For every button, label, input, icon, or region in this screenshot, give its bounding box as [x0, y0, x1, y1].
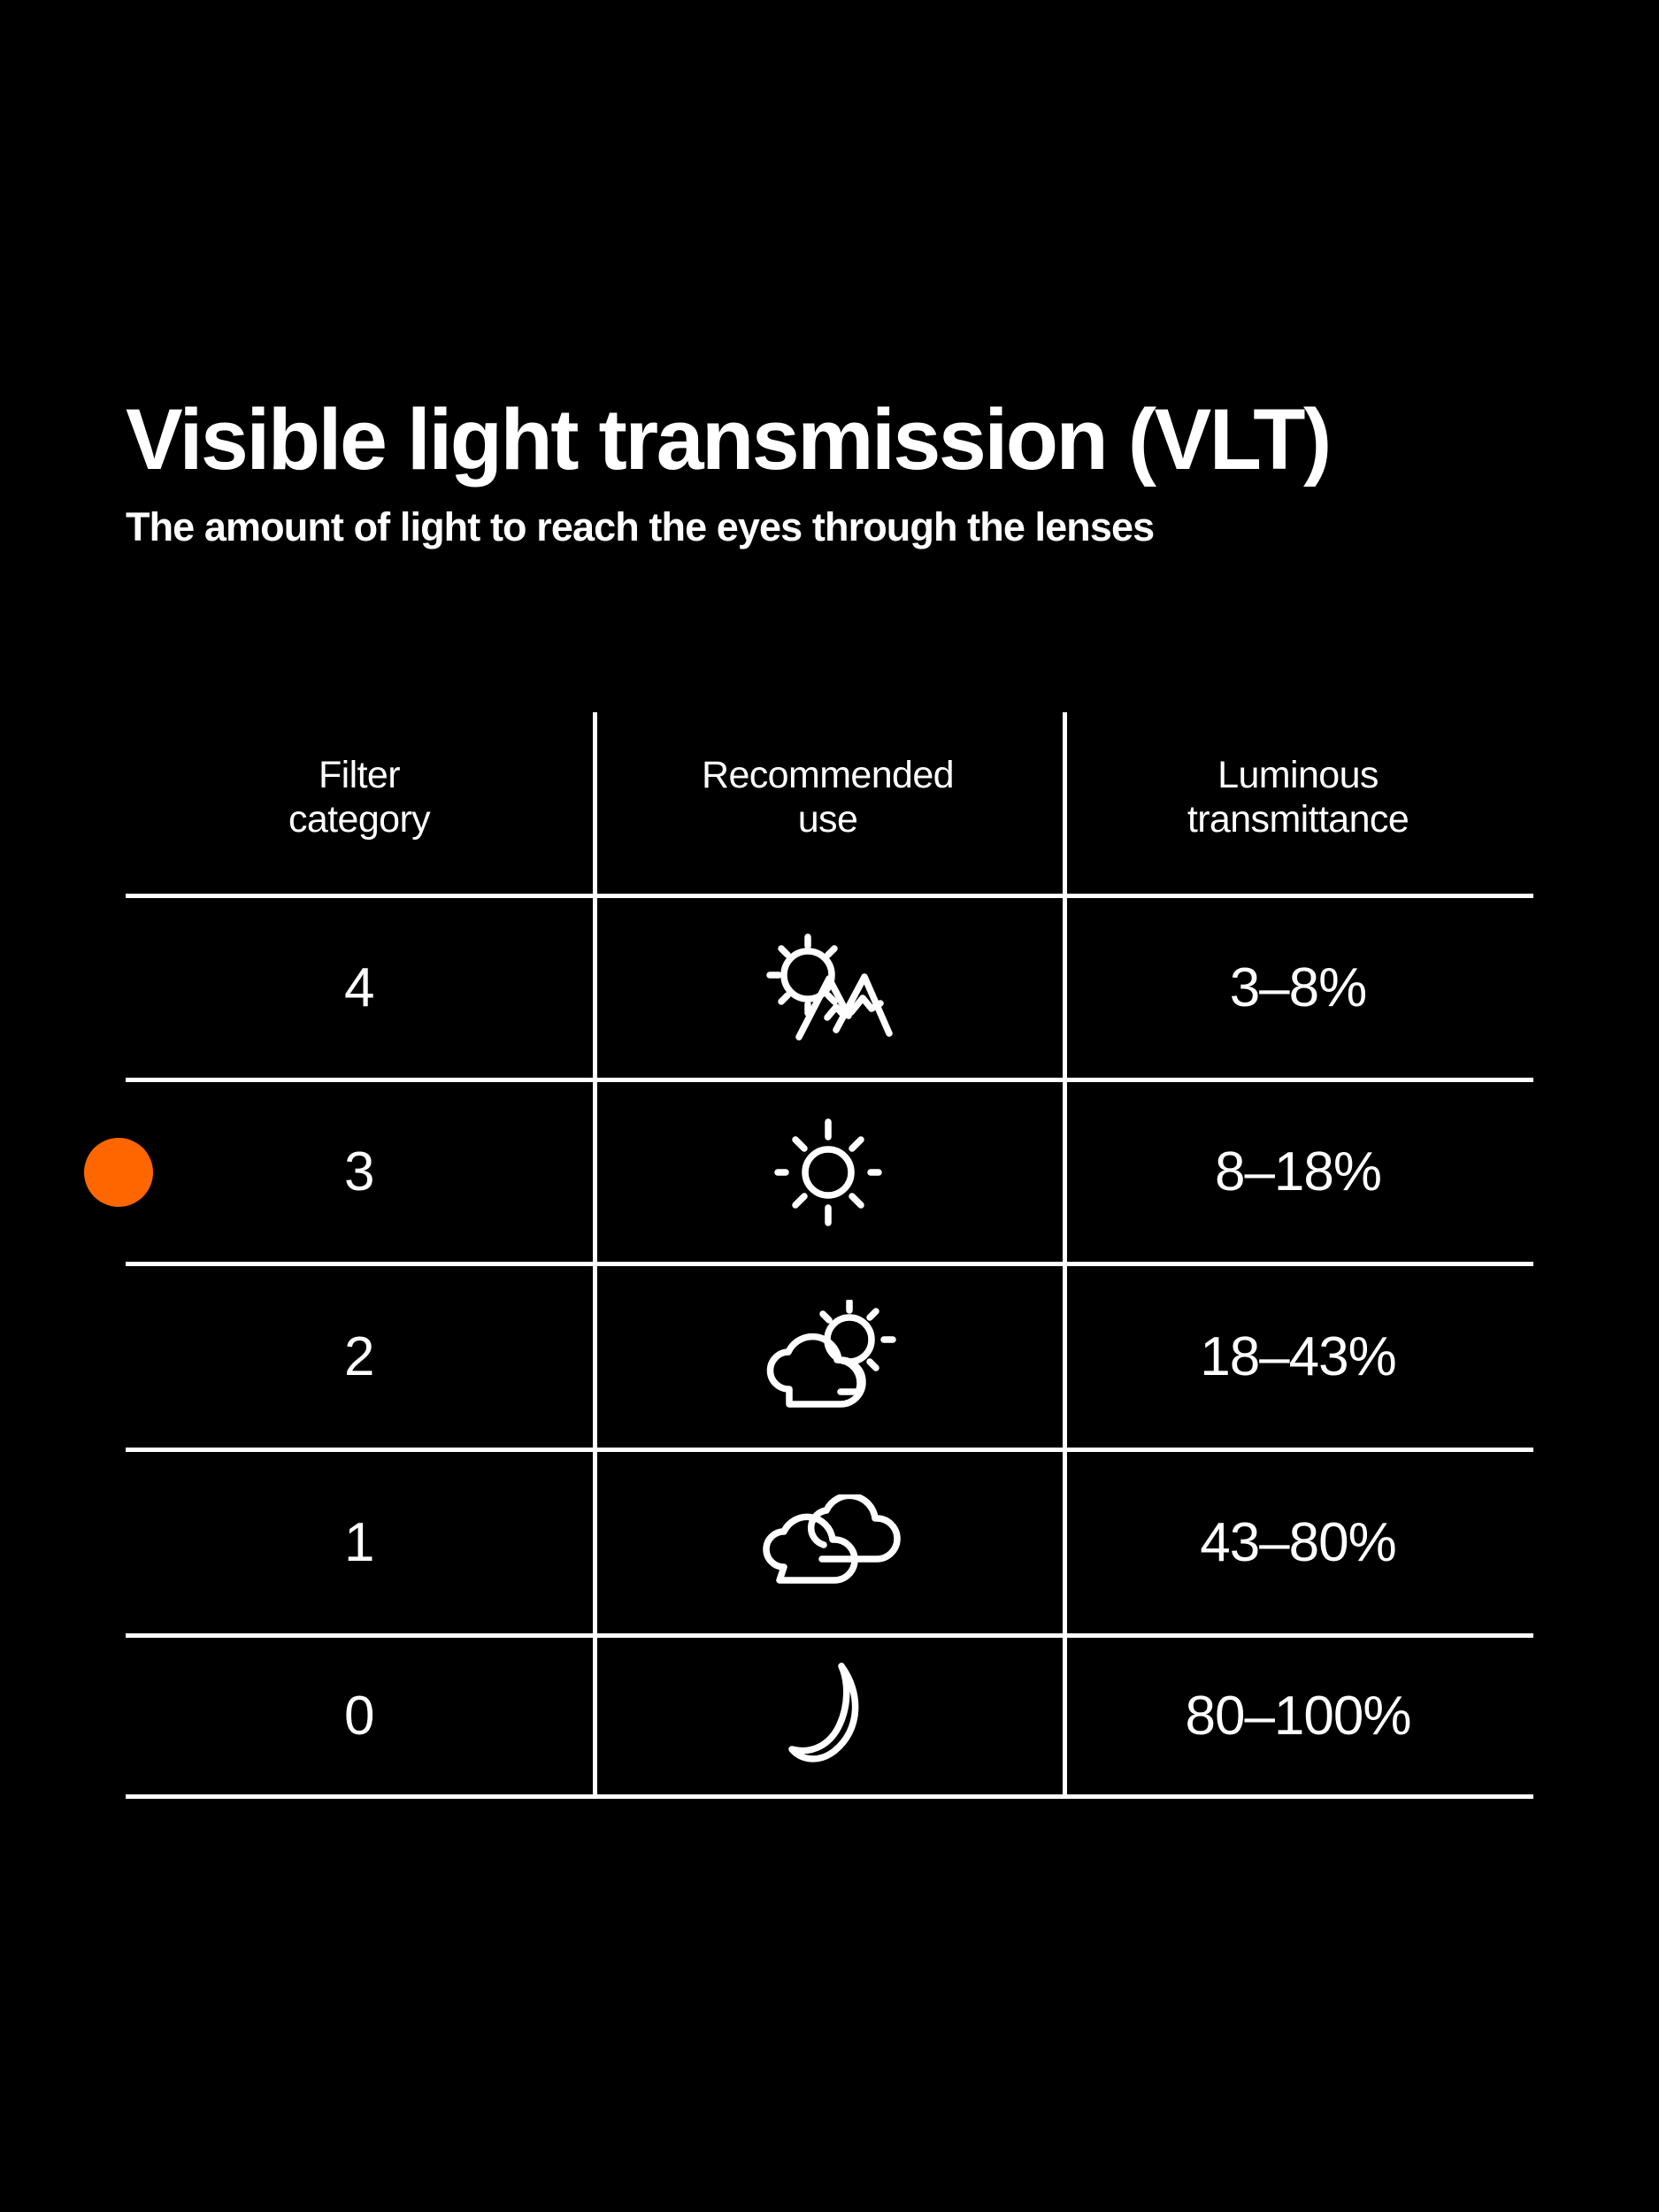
luminous-transmittance-cell: 80–100% — [1063, 1638, 1533, 1794]
luminous-transmittance-cell: 43–80% — [1063, 1452, 1533, 1633]
filter-category-value: 2 — [344, 1330, 374, 1385]
vlt-infographic: Visible light transmission (VLT) The amo… — [0, 0, 1659, 2212]
filter-category-cell: 3 — [126, 1082, 593, 1262]
column-header-line2: category — [288, 798, 430, 841]
luminous-transmittance-value: 80–100% — [1185, 1689, 1410, 1744]
luminous-transmittance-value: 43–80% — [1200, 1516, 1396, 1571]
luminous-transmittance-cell: 18–43% — [1063, 1266, 1533, 1448]
sun-icon — [771, 1115, 886, 1230]
filter-category-cell: 2 — [126, 1266, 593, 1448]
sun-mountains-icon — [762, 931, 895, 1046]
table-row: 4 3–8% — [126, 898, 1533, 1078]
table-row: 3 8–18% — [126, 1082, 1533, 1262]
vlt-table: Filter category Recommended use Luminous… — [126, 712, 1533, 1799]
filter-category-value: 4 — [344, 961, 374, 1016]
luminous-transmittance-value: 18–43% — [1200, 1330, 1396, 1385]
column-header-line1: Recommended — [702, 754, 954, 796]
column-header-line1: Luminous — [1217, 754, 1379, 796]
filter-category-cell: 4 — [126, 898, 593, 1078]
luminous-transmittance-cell: 8–18% — [1063, 1082, 1533, 1262]
column-header-line1: Filter — [319, 754, 400, 796]
filter-category-cell: 0 — [126, 1638, 593, 1794]
table-row: 2 18–43% — [126, 1266, 1533, 1448]
clouds-icon — [753, 1494, 903, 1592]
column-header-recommended-use: Recommended use — [593, 712, 1063, 894]
recommended-use-cell — [593, 1266, 1063, 1448]
page-title: Visible light transmission (VLT) — [126, 396, 1559, 482]
column-header-line2: use — [798, 798, 858, 841]
recommended-use-cell — [593, 1638, 1063, 1794]
luminous-transmittance-value: 3–8% — [1230, 961, 1367, 1016]
column-header-line2: transmittance — [1187, 798, 1409, 841]
moon-icon — [780, 1659, 877, 1774]
table-row: 1 43–80% — [126, 1452, 1533, 1633]
filter-category-value: 0 — [344, 1689, 374, 1744]
recommended-use-cell — [593, 898, 1063, 1078]
recommended-use-cell — [593, 1082, 1063, 1262]
column-header-luminous-transmittance: Luminous transmittance — [1063, 712, 1533, 894]
filter-category-value: 1 — [344, 1516, 374, 1571]
sun-behind-cloud-icon — [757, 1300, 899, 1415]
filter-category-cell: 1 — [126, 1452, 593, 1633]
table-row: 0 80–100% — [126, 1638, 1533, 1794]
luminous-transmittance-value: 8–18% — [1215, 1145, 1381, 1200]
table-header-row: Filter category Recommended use Luminous… — [126, 712, 1533, 894]
highlight-marker — [84, 1138, 153, 1207]
luminous-transmittance-cell: 3–8% — [1063, 898, 1533, 1078]
column-header-filter-category: Filter category — [126, 712, 593, 894]
recommended-use-cell — [593, 1452, 1063, 1633]
filter-category-value: 3 — [344, 1145, 374, 1200]
heading-block: Visible light transmission (VLT) The amo… — [126, 396, 1559, 549]
page-subtitle: The amount of light to reach the eyes th… — [126, 505, 1559, 549]
row-divider-bottom — [126, 1794, 1533, 1799]
